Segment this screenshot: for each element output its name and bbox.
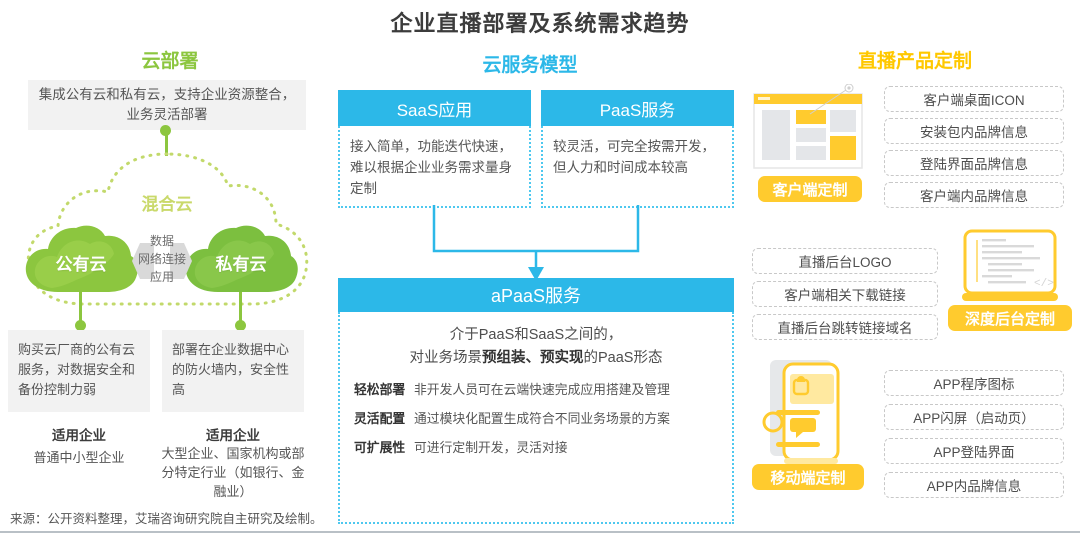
apaas-feature-key: 轻松部署 <box>354 381 414 399</box>
apaas-feature-row: 轻松部署 非开发人员可在云端快速完成应用搭建及管理 <box>354 381 718 399</box>
list-item: 客户端相关下载链接 <box>752 281 938 307</box>
service-card-paas-title: PaaS服务 <box>541 90 734 126</box>
private-cloud-description: 部署在企业数据中心的防火墙内，安全性高 <box>162 330 304 412</box>
cloud-deployment-intro: 集成公有云和私有云，支持企业资源整合，业务灵活部署 <box>28 80 306 130</box>
list-item: APP程序图标 <box>884 370 1064 396</box>
backend-customization-list: 直播后台LOGO 客户端相关下载链接 直播后台跳转链接域名 <box>752 248 938 347</box>
list-item: 客户端桌面ICON <box>884 86 1064 112</box>
list-item: 客户端内品牌信息 <box>884 182 1064 208</box>
apaas-lead-line-2-a: 对业务场景 <box>410 350 483 366</box>
service-card-saas: SaaS应用 接入简单，功能迭代快速，难以根据企业业务需求量身定制 <box>338 90 531 208</box>
service-card-saas-title: SaaS应用 <box>338 90 531 126</box>
section-heading-product-customization: 直播产品定制 <box>790 46 1040 73</box>
apaas-card-body: 介于PaaS和SaaS之间的， 对业务场景预组装、预实现的PaaS形态 轻松部署… <box>338 312 734 524</box>
apaas-card-title: aPaaS服务 <box>338 278 734 312</box>
apaas-lead-line-2-highlight: 预组装、预实现 <box>482 350 584 366</box>
apaas-feature-value: 可进行定制开发，灵活对接 <box>414 439 568 457</box>
apaas-feature-key: 可扩展性 <box>354 439 414 457</box>
list-item: 登陆界面品牌信息 <box>884 150 1064 176</box>
public-cloud-fit-text: 普通中小型企业 <box>8 448 150 467</box>
list-item: 直播后台跳转链接域名 <box>752 314 938 340</box>
service-card-paas-desc: 较灵活，可完全按需开发，但人力和时间成本较高 <box>541 126 734 208</box>
apaas-card: aPaaS服务 介于PaaS和SaaS之间的， 对业务场景预组装、预实现的Paa… <box>338 278 734 524</box>
apaas-lead-line-1: 介于PaaS和SaaS之间的， <box>354 324 718 347</box>
apaas-feature-key: 灵活配置 <box>354 410 414 428</box>
cloud-link-line-3: 应用 <box>126 268 198 286</box>
code-laptop-icon: </> <box>962 228 1058 304</box>
apaas-lead-line-2: 对业务场景预组装、预实现的PaaS形态 <box>354 347 718 370</box>
private-cloud-label: 私有云 <box>182 250 300 275</box>
cloud-link-line-1: 数据 <box>126 232 198 250</box>
apaas-feature-value: 非开发人员可在云端快速完成应用搭建及管理 <box>414 381 670 399</box>
list-item: 直播后台LOGO <box>752 248 938 274</box>
section-heading-cloud-deployment: 云部署 <box>60 46 280 73</box>
list-item: APP登陆界面 <box>884 438 1064 464</box>
client-customization-list: 客户端桌面ICON 安装包内品牌信息 登陆界面品牌信息 客户端内品牌信息 <box>884 86 1064 214</box>
list-item: APP闪屏（启动页） <box>884 404 1064 430</box>
apaas-lead-text: 介于PaaS和SaaS之间的， 对业务场景预组装、预实现的PaaS形态 <box>354 324 718 370</box>
service-merge-connector <box>338 205 734 281</box>
apaas-feature-row: 可扩展性 可进行定制开发，灵活对接 <box>354 439 718 457</box>
app-customization-list: APP程序图标 APP闪屏（启动页） APP登陆界面 APP内品牌信息 <box>884 370 1064 506</box>
private-cloud-fit-label: 适用企业 <box>162 424 304 444</box>
private-cloud-node: 私有云 <box>182 222 300 296</box>
public-cloud-label: 公有云 <box>22 250 140 275</box>
infographic-canvas: 企业直播部署及系统需求趋势 云部署 集成公有云和私有云，支持企业资源整合，业务灵… <box>0 0 1080 538</box>
svg-text:</>: </> <box>1034 278 1054 290</box>
private-cloud-fit-text: 大型企业、国家机构或部分特定行业（如银行、金融业） <box>158 444 308 501</box>
apaas-feature-value: 通过模块化配置生成符合不同业务场景的方案 <box>414 410 670 428</box>
cloud-link-text: 数据 网络连接 应用 <box>126 232 198 286</box>
footer-divider <box>0 531 1080 533</box>
badge-backend-customization: 深度后台定制 <box>948 305 1072 331</box>
window-mockup-icon <box>752 84 864 178</box>
service-card-paas: PaaS服务 较灵活，可完全按需开发，但人力和时间成本较高 <box>541 90 734 208</box>
public-cloud-description: 购买云厂商的公有云服务，对数据安全和备份控制力弱 <box>8 330 150 412</box>
mobile-phone-icon <box>754 358 862 472</box>
page-title: 企业直播部署及系统需求趋势 <box>0 6 1080 38</box>
list-item: APP内品牌信息 <box>884 472 1064 498</box>
hybrid-cloud-label: 混合云 <box>12 190 322 215</box>
apaas-feature-row: 灵活配置 通过模块化配置生成符合不同业务场景的方案 <box>354 410 718 428</box>
section-heading-cloud-service-model: 云服务模型 <box>380 50 680 77</box>
badge-client-customization: 客户端定制 <box>758 176 862 202</box>
apaas-lead-line-2-c: 的PaaS形态 <box>584 350 663 366</box>
public-cloud-node: 公有云 <box>22 222 140 296</box>
badge-mobile-customization: 移动端定制 <box>752 464 864 490</box>
source-note: 来源：公开资料整理，艾瑞咨询研究院自主研究及绘制。 <box>10 508 323 527</box>
cloud-link-line-2: 网络连接 <box>126 250 198 268</box>
public-cloud-fit-label: 适用企业 <box>8 424 150 444</box>
service-card-saas-desc: 接入简单，功能迭代快速，难以根据企业业务需求量身定制 <box>338 126 531 208</box>
list-item: 安装包内品牌信息 <box>884 118 1064 144</box>
